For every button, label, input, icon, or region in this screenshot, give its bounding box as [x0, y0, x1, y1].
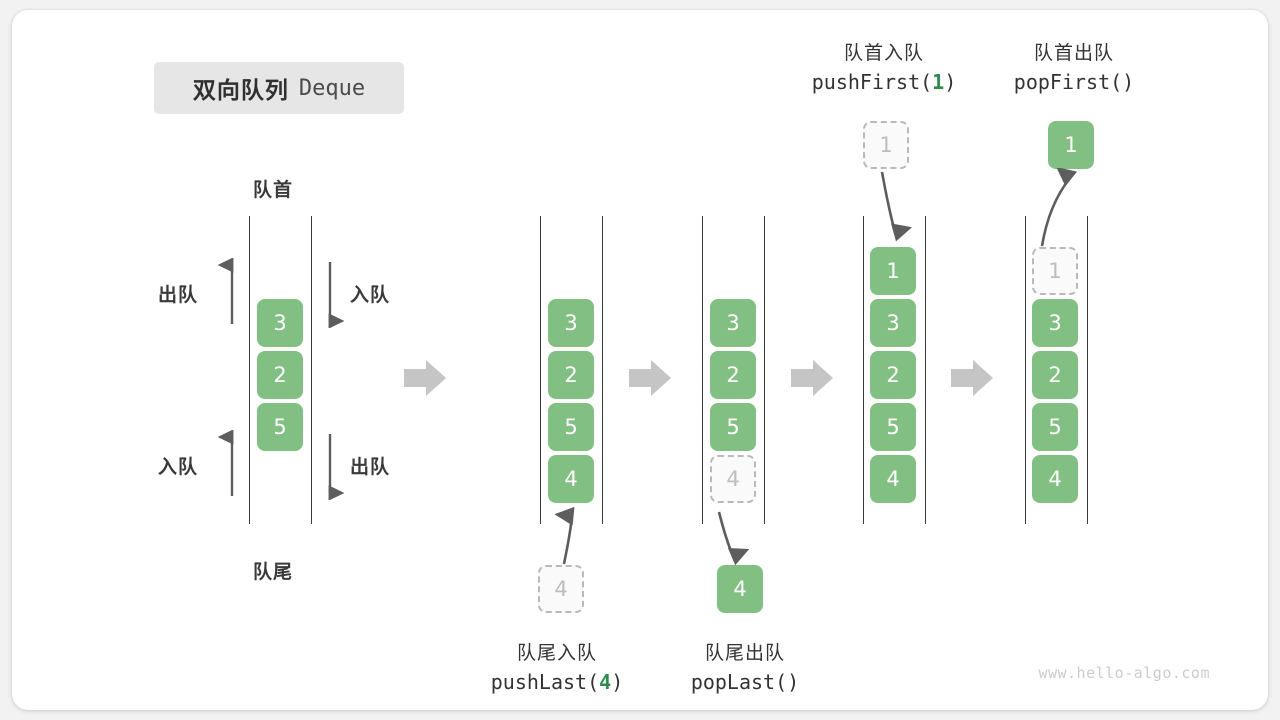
rail-left — [1025, 216, 1026, 524]
dequeue-rear-arrow-icon — [315, 430, 345, 500]
caption-code: popFirst() — [1014, 70, 1134, 94]
pop-first-result-cell: 1 — [1048, 121, 1094, 169]
caption-code: pushFirst(1) — [812, 70, 957, 94]
push-last-source-cell: 4 — [538, 565, 584, 613]
caption-pop-last: 队尾出队 popLast() — [691, 638, 799, 694]
cell: 5 — [710, 403, 756, 451]
cell: 5 — [1032, 403, 1078, 451]
cell: 3 — [548, 299, 594, 347]
front-label: 队首 — [253, 175, 293, 202]
dequeue-front-arrow-icon — [217, 258, 247, 328]
cell: 3 — [1032, 299, 1078, 347]
rail-right — [925, 216, 926, 524]
cell: 2 — [548, 351, 594, 399]
rail-left — [863, 216, 864, 524]
caption-pop-first: 队首出队 popFirst() — [1014, 38, 1134, 94]
cell: 3 — [710, 299, 756, 347]
push-first-arrow-icon — [864, 170, 924, 250]
caption-push-first: 队首入队 pushFirst(1) — [812, 38, 957, 94]
watermark: www.hello-algo.com — [1038, 664, 1210, 682]
rail-right — [602, 216, 603, 524]
side-label-dequeue-front: 出队 — [158, 280, 198, 307]
push-first-source-cell: 1 — [863, 121, 909, 169]
cell: 4 — [1032, 455, 1078, 503]
cell: 2 — [257, 351, 303, 399]
side-label-enqueue-front: 入队 — [350, 280, 390, 307]
caption-code: popLast() — [691, 670, 799, 694]
transition-arrow-icon — [629, 358, 673, 398]
cell: 5 — [548, 403, 594, 451]
caption-push-last: 队尾入队 pushLast(4) — [491, 638, 623, 694]
transition-arrow-icon — [791, 358, 835, 398]
title-cn: 双向队列 — [193, 71, 289, 105]
pop-last-arrow-icon — [707, 510, 767, 572]
caption-cn: 队首入队 — [812, 38, 957, 65]
cell: 4 — [548, 455, 594, 503]
title-en: Deque — [299, 76, 365, 101]
rail-right — [764, 216, 765, 524]
cell-ghost: 4 — [710, 455, 756, 503]
diagram-canvas: 双向队列 Deque 队首 队尾 出队 入队 入队 出队 — [0, 0, 1280, 720]
enqueue-front-arrow-icon — [315, 258, 345, 328]
cell: 4 — [870, 455, 916, 503]
push-last-arrow-icon — [542, 500, 602, 570]
diagram-card: 双向队列 Deque 队首 队尾 出队 入队 入队 出队 — [12, 10, 1268, 710]
title-badge: 双向队列 Deque — [154, 62, 404, 114]
rail-left — [540, 216, 541, 524]
rail-right — [1087, 216, 1088, 524]
rail-left — [249, 216, 250, 524]
cell: 5 — [257, 403, 303, 451]
transition-arrow-icon — [951, 358, 995, 398]
cell-ghost: 1 — [1032, 247, 1078, 295]
transition-arrow-icon — [404, 358, 448, 398]
side-label-dequeue-rear: 出队 — [350, 452, 390, 479]
side-label-enqueue-rear: 入队 — [158, 452, 198, 479]
cell: 2 — [710, 351, 756, 399]
caption-cn: 队首出队 — [1014, 38, 1134, 65]
enqueue-rear-arrow-icon — [217, 430, 247, 500]
cell: 5 — [870, 403, 916, 451]
pop-first-arrow-icon — [1030, 168, 1100, 250]
pop-last-result-cell: 4 — [717, 565, 763, 613]
caption-code: pushLast(4) — [491, 670, 623, 694]
cell: 3 — [870, 299, 916, 347]
rail-right — [311, 216, 312, 524]
cell: 2 — [1032, 351, 1078, 399]
cell: 1 — [870, 247, 916, 295]
cell: 3 — [257, 299, 303, 347]
rear-label: 队尾 — [253, 557, 293, 584]
caption-cn: 队尾出队 — [691, 638, 799, 665]
caption-cn: 队尾入队 — [491, 638, 623, 665]
rail-left — [702, 216, 703, 524]
cell: 2 — [870, 351, 916, 399]
